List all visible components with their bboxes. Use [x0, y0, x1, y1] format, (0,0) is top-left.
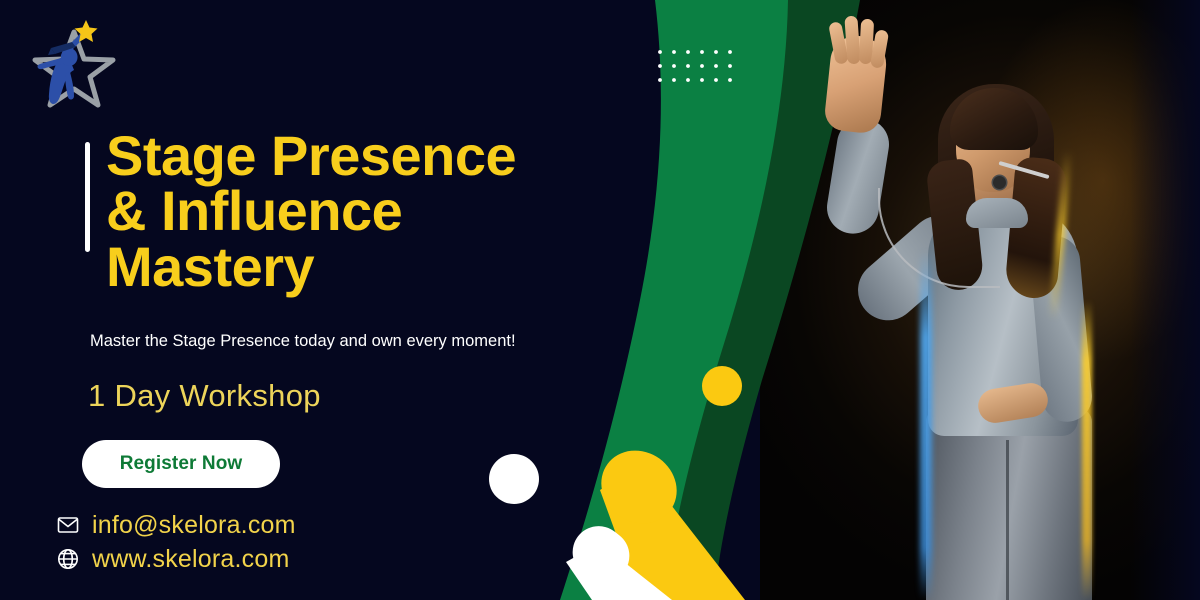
envelope-icon	[56, 513, 80, 537]
title-accent-bar	[85, 142, 90, 252]
white-dot	[489, 454, 539, 504]
graduate-star-logo-icon	[18, 14, 122, 118]
globe-icon	[56, 547, 80, 571]
title-line-3: Mastery	[106, 239, 666, 294]
yellow-dot	[702, 366, 742, 406]
contact-website-text: www.skelora.com	[92, 545, 290, 574]
contact-email-text: info@skelora.com	[92, 511, 296, 540]
event-banner: Stage Presence & Influence Mastery Maste…	[0, 0, 1200, 600]
title-line-1: Stage Presence	[106, 128, 666, 183]
contact-email[interactable]: info@skelora.com	[56, 508, 296, 542]
subtitle: Master the Stage Presence today and own …	[90, 330, 580, 353]
contact-website[interactable]: www.skelora.com	[56, 542, 296, 576]
contact-info: info@skelora.com www.skelora.com	[56, 508, 296, 576]
page-title: Stage Presence & Influence Mastery	[106, 128, 666, 294]
title-line-2: & Influence	[106, 183, 666, 238]
workshop-label: 1 Day Workshop	[88, 378, 321, 414]
register-now-button[interactable]: Register Now	[82, 440, 280, 488]
